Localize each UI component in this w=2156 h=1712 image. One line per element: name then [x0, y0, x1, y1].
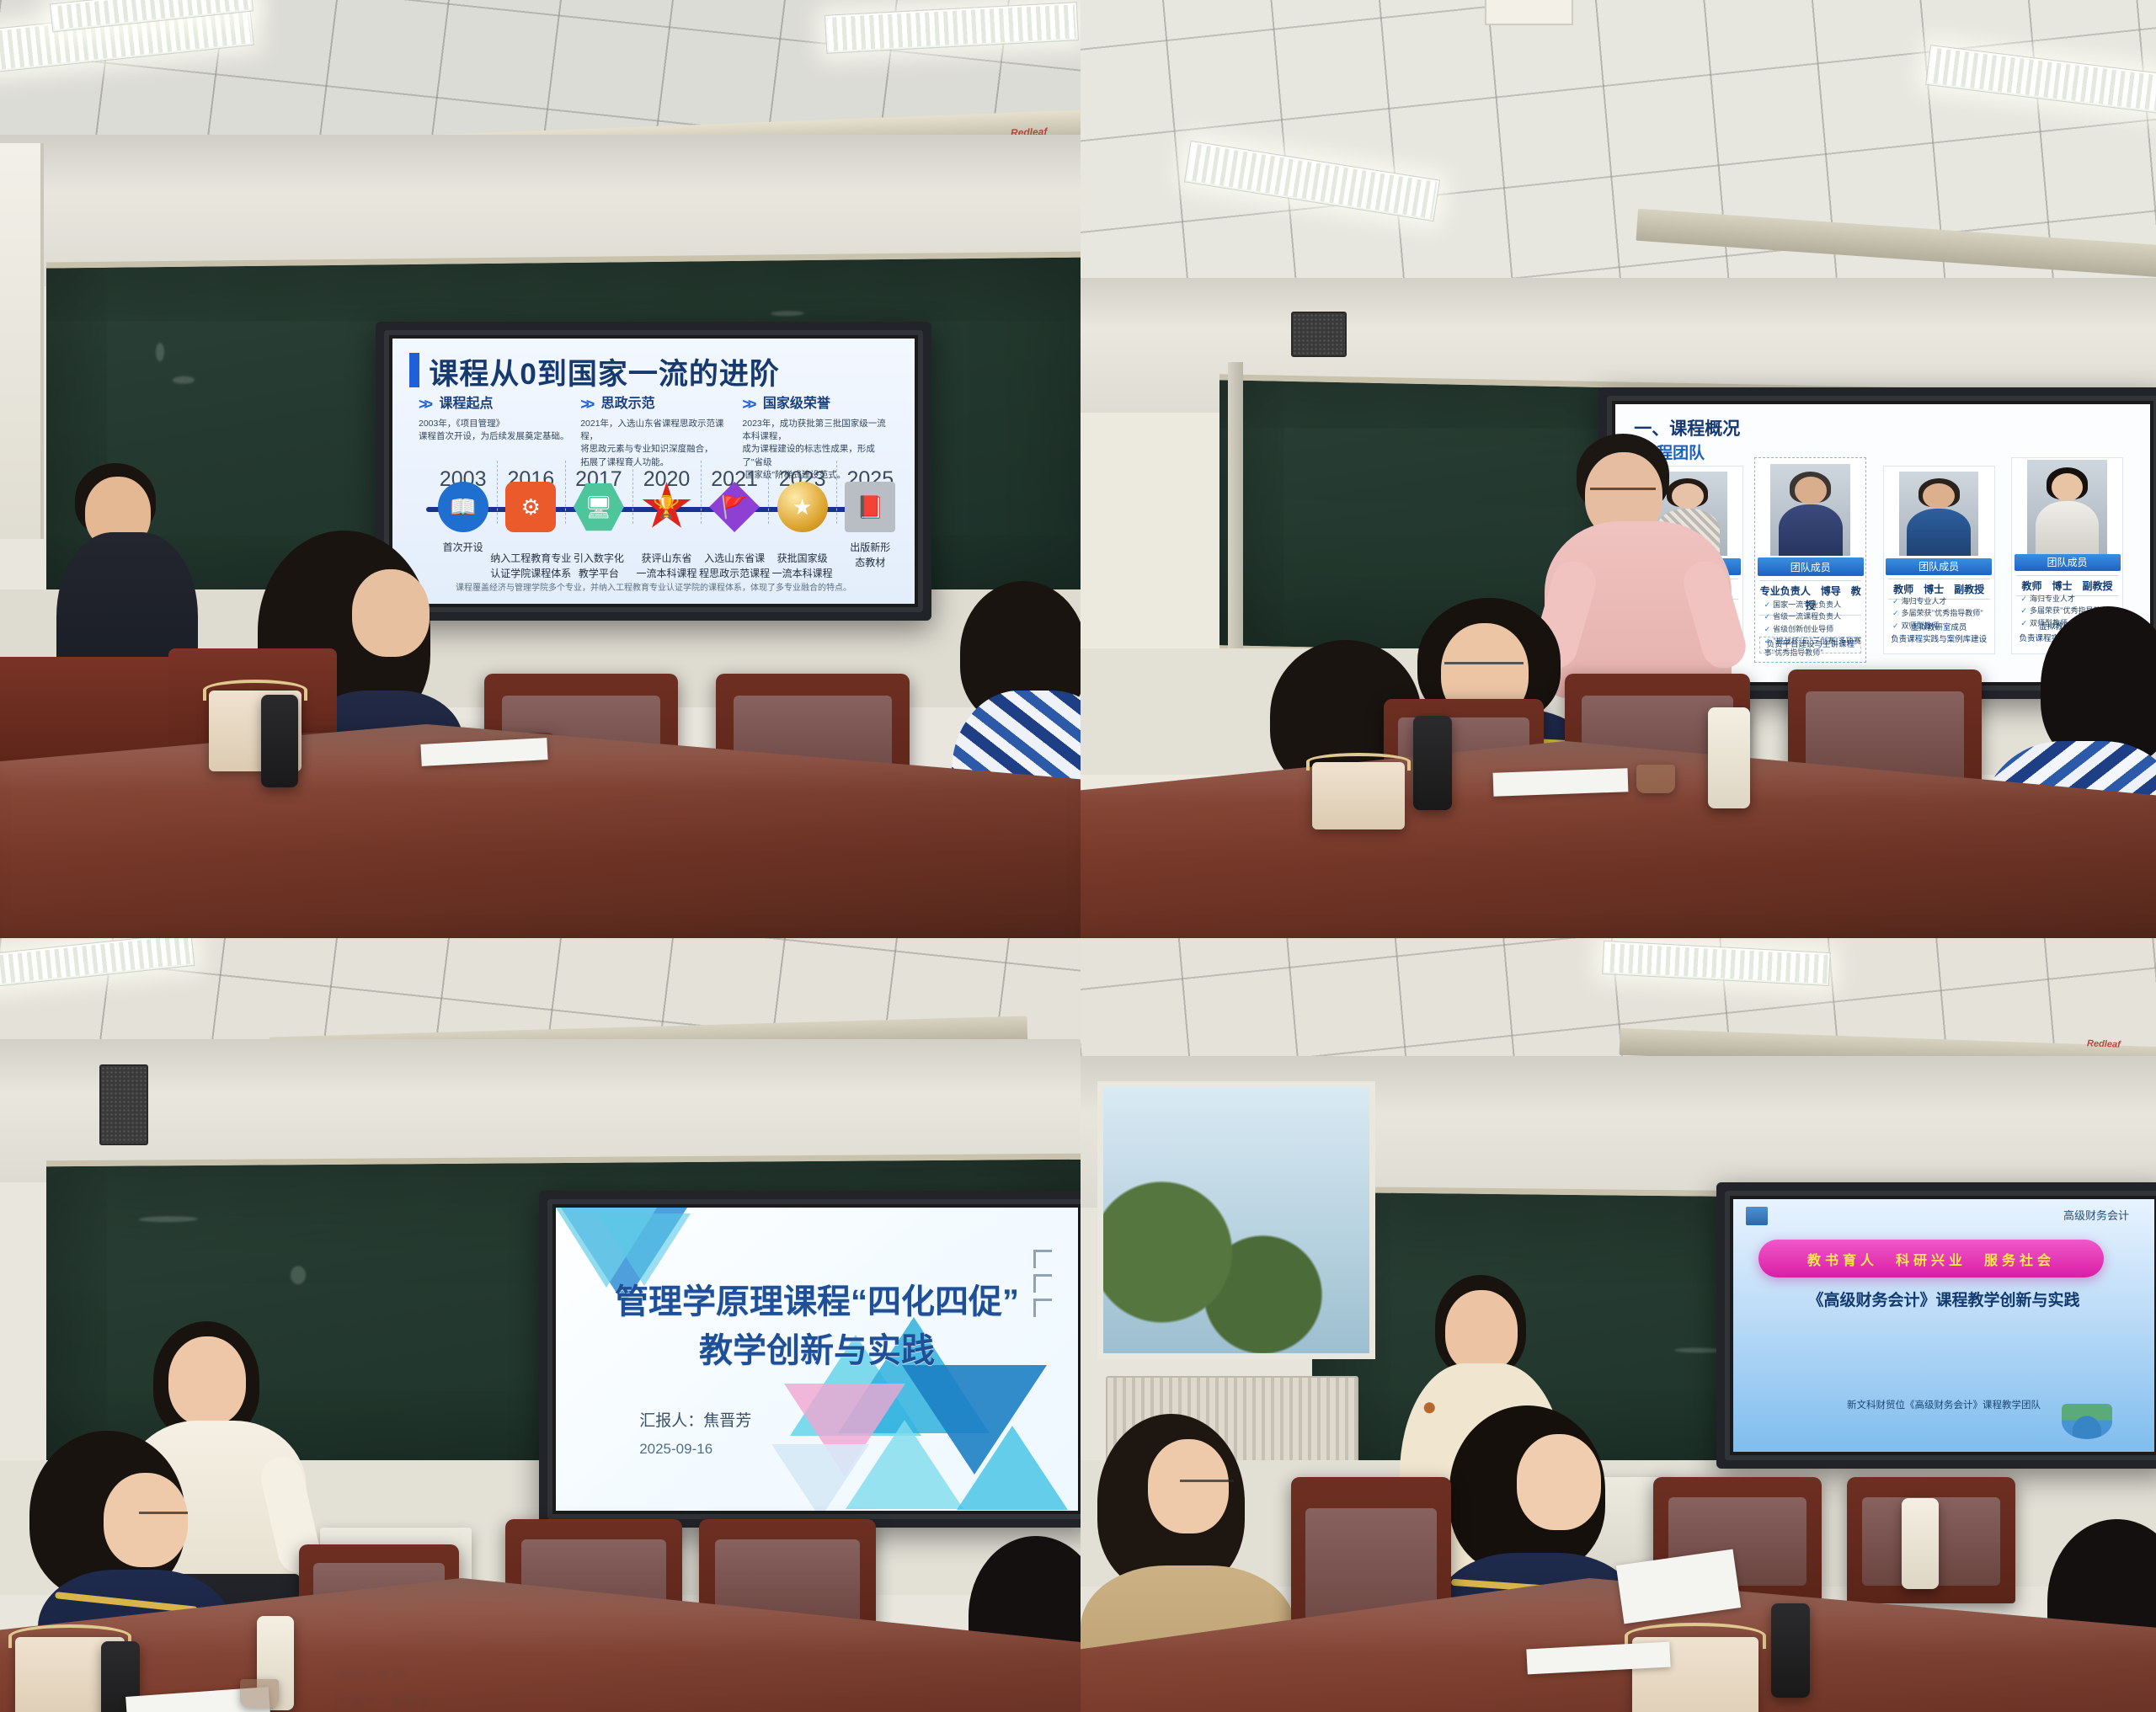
- timeline-node-label: 纳入工程教育专业 认证学院课程体系: [490, 551, 571, 581]
- header-label: 思政示范: [601, 392, 655, 412]
- vacuum-flask[interactable]: [261, 695, 298, 787]
- timeline-header-0: >> 课程起点 2003年，《项目管理》 课程首次开设，为后续发展奠定基础。: [419, 392, 570, 443]
- decor-triangle: [598, 1213, 691, 1286]
- bullet: 国家一流专业负责人: [1764, 599, 1862, 611]
- timeline-node-label: 出版新形态教材: [848, 540, 893, 570]
- photo-collage: Redleaf 课程从0到国家一流的进阶 >> 课程起点 2003年，《项目: [0, 0, 2156, 1712]
- team-card: 团队成员 专业负责人 博导 教授 国家一流专业负责人 省级一流课程负责人 省级创…: [1754, 457, 1866, 663]
- classroom-display[interactable]: 管理学原理课程“四化四促” 教学创新与实践 汇报人：焦晋芳 2025-09-16: [539, 1191, 1081, 1528]
- header-body: 2003年，《项目管理》 课程首次开设，为后续发展奠定基础。: [419, 418, 570, 443]
- corner-marker-icon: [1033, 1250, 1052, 1268]
- wall-speaker-icon: [99, 1064, 148, 1145]
- presentation-date: 2025-09-16: [639, 1441, 712, 1458]
- university-logo-icon: [1746, 1207, 1768, 1225]
- header-label: 国家级荣誉: [763, 392, 830, 412]
- panel-top-left: Redleaf 课程从0到国家一流的进阶 >> 课程起点 2003年，《项目: [0, 0, 1081, 938]
- bullet: 省级一流课程负责人: [1764, 611, 1862, 622]
- portrait-photo: [1899, 472, 1979, 556]
- window: [1097, 1081, 1375, 1359]
- header-body: 2021年，入选山东省课程思政示范课程， 将思政元素与专业知识深度融合， 拓展了…: [580, 418, 732, 469]
- slide-surface: 管理学原理课程“四化四促” 教学创新与实践 汇报人：焦晋芳 2025-09-16: [556, 1208, 1078, 1511]
- glasses-icon: [1180, 1480, 1234, 1482]
- panel-top-right: 一、课程概况 1.课程团队 团队成员 教师 博士 讲师 海归专业人才 多届荣获"…: [1081, 0, 2156, 938]
- timeline-node-label: 获批国家级 一流本科课程: [772, 551, 833, 581]
- wall-post: [1228, 362, 1243, 648]
- glasses-icon: [1444, 662, 1524, 664]
- papers[interactable]: [1493, 768, 1629, 797]
- team-card: 团队成员 教师 博士 副教授 海归专业人才 多届荣获"优秀指导教师" 双师型教师…: [1883, 466, 1995, 654]
- vacuum-flask[interactable]: [1771, 1603, 1810, 1698]
- timeline-header-1: >> 思政示范 2021年，入选山东省课程思政示范课程， 将思政元素与专业知识深…: [580, 392, 732, 469]
- gold-star-medal-icon: ★: [777, 482, 828, 532]
- timeline-node-label: 入选山东省课 程思政示范课程: [699, 551, 770, 581]
- vacuum-flask-cream[interactable]: [1708, 707, 1750, 808]
- slide-banner: 教书育人 科研兴业 服务社会: [1758, 1240, 2104, 1277]
- panel-bottom-left: 管理学原理课程“四化四促” 教学创新与实践 汇报人：焦晋芳 2025-09-16: [0, 938, 1081, 1712]
- corner-marker-icon: [1033, 1274, 1052, 1293]
- presenter-label: 汇报人：焦晋芳: [639, 1408, 751, 1431]
- boat-emblem-icon: [2062, 1404, 2112, 1439]
- header-label: 课程起点: [439, 392, 493, 412]
- bullet: 多届荣获"优秀指导教师": [1892, 607, 1990, 619]
- vacuum-flask[interactable]: [1413, 716, 1452, 810]
- title-accent-bar: [409, 353, 419, 387]
- slide-title: 课程从0到国家一流的进阶: [429, 350, 779, 393]
- decor-triangle: [957, 1426, 1068, 1510]
- window-left: [0, 143, 44, 539]
- bullet: 海归专业人才: [1892, 595, 1990, 607]
- slide-reflection: 汇报人：焦晋芳 2025-09-16: [337, 1603, 615, 1712]
- book-icon: 📖: [438, 482, 488, 532]
- glass-cup[interactable]: [1636, 765, 1675, 793]
- corner-marker-icon: [1033, 1299, 1052, 1317]
- head: [1148, 1439, 1229, 1533]
- chevron-right-icon: >>: [419, 396, 430, 413]
- classroom-display[interactable]: 课程从0到国家一流的进阶 >> 课程起点 2003年，《项目管理》 课程首次开设…: [376, 322, 931, 621]
- slide-running-header: 高级财务会计: [2063, 1207, 2129, 1223]
- glasses-icon: [139, 1512, 188, 1514]
- decor-triangle: [771, 1444, 869, 1511]
- head: [1445, 1290, 1518, 1373]
- portrait-photo: [2027, 460, 2107, 554]
- bullet: 省级创新创业导师: [1764, 623, 1862, 635]
- panel-bottom-right: Redleaf 高级财务会计 教书育人 科研兴业 服务社会 《高级财务会计》课程…: [1081, 938, 2156, 1712]
- classroom-display[interactable]: 高级财务会计 教书育人 科研兴业 服务社会 《高级财务会计》课程教学创新与实践 …: [1716, 1182, 2156, 1469]
- slide-cover-management: 管理学原理课程“四化四促” 教学创新与实践 汇报人：焦晋芳 2025-09-16: [556, 1208, 1078, 1511]
- head: [168, 1336, 246, 1426]
- slide-cover-accounting: 高级财务会计 教书育人 科研兴业 服务社会 《高级财务会计》课程教学创新与实践 …: [1733, 1199, 2154, 1452]
- slide-timeline: 课程从0到国家一流的进阶 >> 课程起点 2003年，《项目管理》 课程首次开设…: [392, 339, 915, 604]
- slide-surface: 课程从0到国家一流的进阶 >> 课程起点 2003年，《项目管理》 课程首次开设…: [392, 339, 915, 604]
- slide-subtitle: 《高级财务会计》课程教学创新与实践: [1754, 1288, 2133, 1310]
- slide-title-line2: 教学创新与实践: [587, 1326, 1047, 1375]
- head: [352, 569, 430, 657]
- slide-title: 管理学原理课程“四化四促” 教学创新与实践: [587, 1277, 1047, 1375]
- vacuum-flask-cream[interactable]: [1902, 1498, 1939, 1589]
- card-ribbon: 团队成员: [1886, 558, 1992, 575]
- projector-brand-label: Redleaf: [2087, 1038, 2121, 1049]
- wall-speaker-icon: [1291, 312, 1347, 357]
- chevron-right-icon: >>: [580, 396, 591, 413]
- card-ribbon: 团队成员: [1758, 557, 1864, 576]
- card-duty: 负责平台建设与主讲课程: [1759, 637, 1861, 653]
- portrait-photo: [1770, 464, 1850, 556]
- gear-document-icon: ⚙: [505, 482, 556, 532]
- slide-surface: 高级财务会计 教书育人 科研兴业 服务社会 《高级财务会计》课程教学创新与实践 …: [1733, 1199, 2154, 1452]
- head: [104, 1473, 188, 1567]
- glass-cup[interactable]: [240, 1679, 279, 1708]
- slide-footer-note: 课程覆盖经济与管理学院多个专业，并纳入工程教育专业认证学院的课程体系，体现了多专…: [435, 580, 873, 593]
- head: [1517, 1434, 1601, 1530]
- open-book-icon: 📕: [845, 482, 895, 532]
- slide-title-line1: 管理学原理课程“四化四促”: [587, 1277, 1047, 1326]
- timeline-node-label: 获评山东省 一流本科课程: [636, 551, 696, 581]
- chevron-right-icon: >>: [742, 396, 753, 413]
- handbag[interactable]: [1312, 762, 1405, 829]
- card-ribbon: 团队成员: [2015, 554, 2121, 572]
- ceiling-diffuser: [1485, 0, 1573, 25]
- glasses-icon: [1590, 488, 1656, 490]
- card-duty: 虚拟教研室成员 负责课程实践与案例库建设: [1888, 622, 1990, 647]
- timeline-node-label: 引入数字化 教学平台: [574, 551, 624, 581]
- bullet: 海归专业人才: [2020, 593, 2118, 605]
